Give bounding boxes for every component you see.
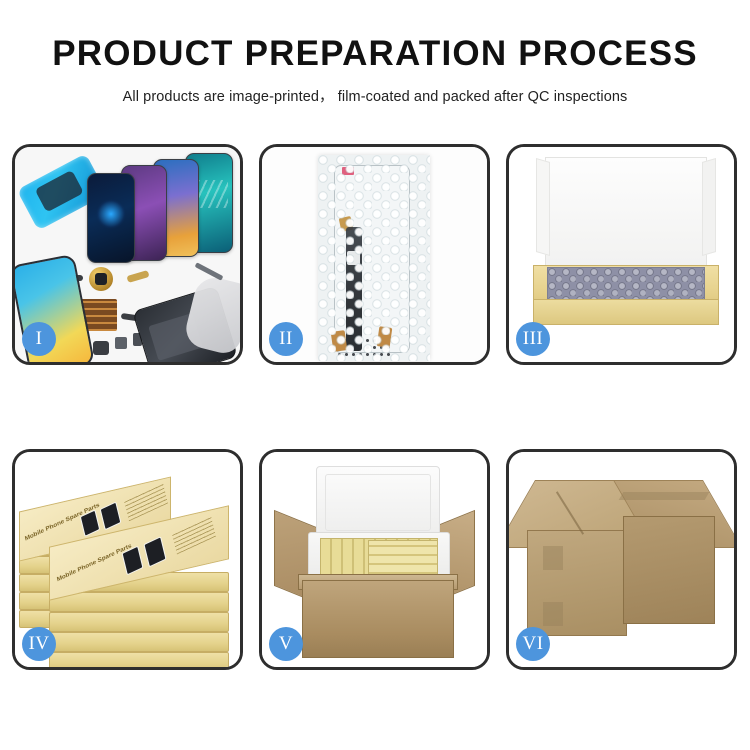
box-phone-image-icon [143, 536, 166, 567]
page-title: PRODUCT PREPARATION PROCESS [0, 36, 750, 71]
box-label-text: Mobile Phone Spare Parts [56, 542, 132, 583]
white-inner-lid-icon [545, 157, 707, 275]
step-badge-1: I [22, 322, 56, 356]
box-layer [49, 632, 229, 652]
step-badge-5: V [269, 627, 303, 661]
step-panel-3[interactable]: III [506, 144, 737, 365]
yellow-box-front-icon [533, 299, 719, 325]
product-preparation-infographic: PRODUCT PREPARATION PROCESS All products… [0, 0, 750, 750]
box-layer [49, 612, 229, 632]
phone-fan-group [87, 157, 237, 267]
foam-lid-icon [316, 466, 440, 540]
step-panel-4[interactable]: Mobile Phone Spare Parts Mobile Phone Sp… [12, 449, 243, 670]
gray-bubble-foam-icon [547, 267, 705, 303]
carton-front-face [527, 530, 627, 636]
header: PRODUCT PREPARATION PROCESS All products… [0, 0, 750, 106]
step-badge-6: VI [516, 627, 550, 661]
box-phone-image-icon [100, 501, 122, 530]
steps-row-1: I II [12, 144, 738, 365]
box-spec-lines [124, 483, 168, 521]
box-spec-lines [172, 516, 216, 554]
speaker-part-icon [89, 267, 113, 291]
step-panel-5[interactable]: V [259, 449, 490, 670]
page-subtitle: All products are image-printed， film-coa… [0, 85, 750, 106]
step-badge-3: III [516, 322, 550, 356]
step-panel-6[interactable]: VI [506, 449, 737, 670]
step-panel-1[interactable]: I [12, 144, 243, 365]
phone-front-glass-icon [87, 173, 135, 263]
step-badge-2: II [269, 322, 303, 356]
box-layer [49, 652, 229, 667]
step-badge-4: IV [22, 627, 56, 661]
part-gold-flex-icon [126, 270, 149, 283]
box-layer [49, 592, 229, 612]
carton-tape-strip [619, 492, 710, 500]
steps-row-2: Mobile Phone Spare Parts Mobile Phone Sp… [12, 449, 738, 670]
bubble-texture [318, 155, 430, 361]
carton-body-icon [302, 580, 454, 658]
bubble-wrap-pack [318, 155, 430, 361]
part-button-icon [115, 337, 127, 349]
part-camera-icon [93, 341, 109, 355]
steps-grid: I II [12, 144, 738, 670]
carton-tape-patch [543, 546, 563, 570]
carton-side-face [623, 516, 715, 624]
step-panel-2[interactable]: II [259, 144, 490, 365]
carton-tape-patch [543, 602, 563, 626]
